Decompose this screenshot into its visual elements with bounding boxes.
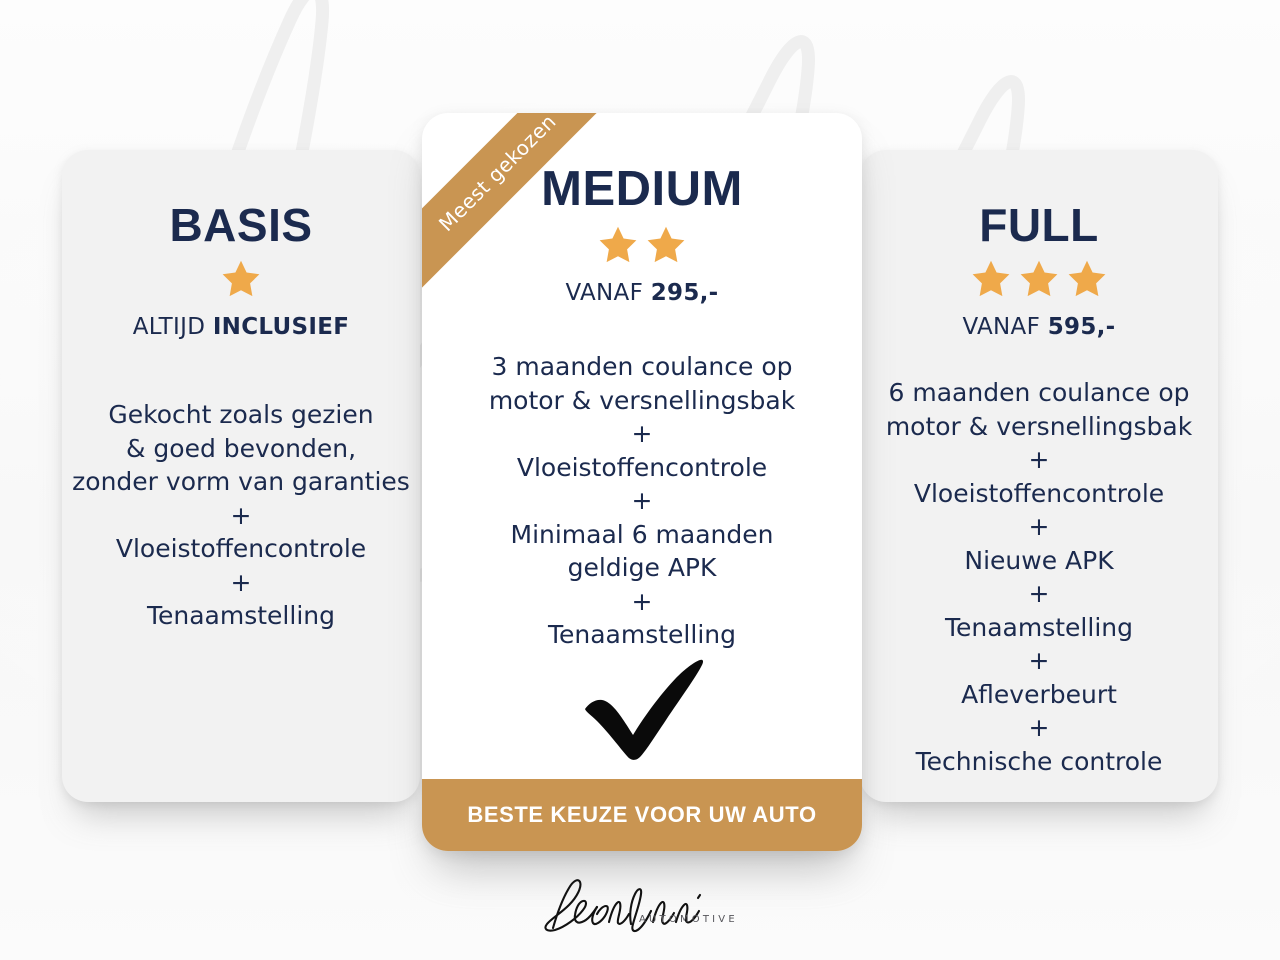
plan-medium-content: MEDIUM VANAF 295,- 3 maanden coulance op… xyxy=(422,165,862,652)
best-choice-label: BESTE KEUZE VOOR UW AUTO xyxy=(467,802,816,828)
plan-features-full: 6 maanden coulance op motor & versnellin… xyxy=(860,376,1218,778)
price-value: 295,- xyxy=(651,280,719,306)
plan-card-medium[interactable]: Meest gekozen MEDIUM VANAF 295,- 3 maand… xyxy=(422,113,862,851)
star-icon xyxy=(220,258,262,300)
best-choice-footer[interactable]: BESTE KEUZE VOOR UW AUTO xyxy=(422,779,862,851)
price-value: INCLUSIEF xyxy=(213,314,349,340)
brand-logo: AUTOMOTIVE xyxy=(0,872,1280,944)
star-icon xyxy=(597,224,639,266)
star-rating-basis xyxy=(62,258,420,300)
star-rating-medium xyxy=(422,224,862,266)
plan-full-content: FULL VANAF 595,- 6 maanden coulance op m… xyxy=(860,202,1218,778)
plan-price-medium: VANAF 295,- xyxy=(422,280,862,306)
plan-features-medium: 3 maanden coulance op motor & versnellin… xyxy=(422,350,862,652)
star-icon xyxy=(1066,258,1108,300)
star-icon xyxy=(1018,258,1060,300)
price-value: 595,- xyxy=(1048,314,1116,340)
plan-card-full[interactable]: FULL VANAF 595,- 6 maanden coulance op m… xyxy=(860,150,1218,802)
price-prefix: VANAF xyxy=(565,280,650,306)
price-prefix: VANAF xyxy=(962,314,1047,340)
plan-features-basis: Gekocht zoals gezien & goed bevonden, zo… xyxy=(62,398,420,633)
check-icon xyxy=(422,653,862,763)
price-prefix: ALTIJD xyxy=(133,314,213,340)
plan-card-basis[interactable]: BASIS ALTIJD INCLUSIEF Gekocht zoals gez… xyxy=(62,150,420,802)
plan-basis-content: BASIS ALTIJD INCLUSIEF Gekocht zoals gez… xyxy=(62,202,420,633)
brand-subtitle: AUTOMOTIVE xyxy=(639,914,738,925)
plan-price-full: VANAF 595,- xyxy=(860,314,1218,340)
plan-price-basis: ALTIJD INCLUSIEF xyxy=(62,314,420,340)
star-icon xyxy=(645,224,687,266)
star-rating-full xyxy=(860,258,1218,300)
star-icon xyxy=(970,258,1012,300)
plan-title-basis: BASIS xyxy=(62,202,420,248)
brand-script-icon xyxy=(535,872,715,938)
plan-title-full: FULL xyxy=(860,202,1218,248)
